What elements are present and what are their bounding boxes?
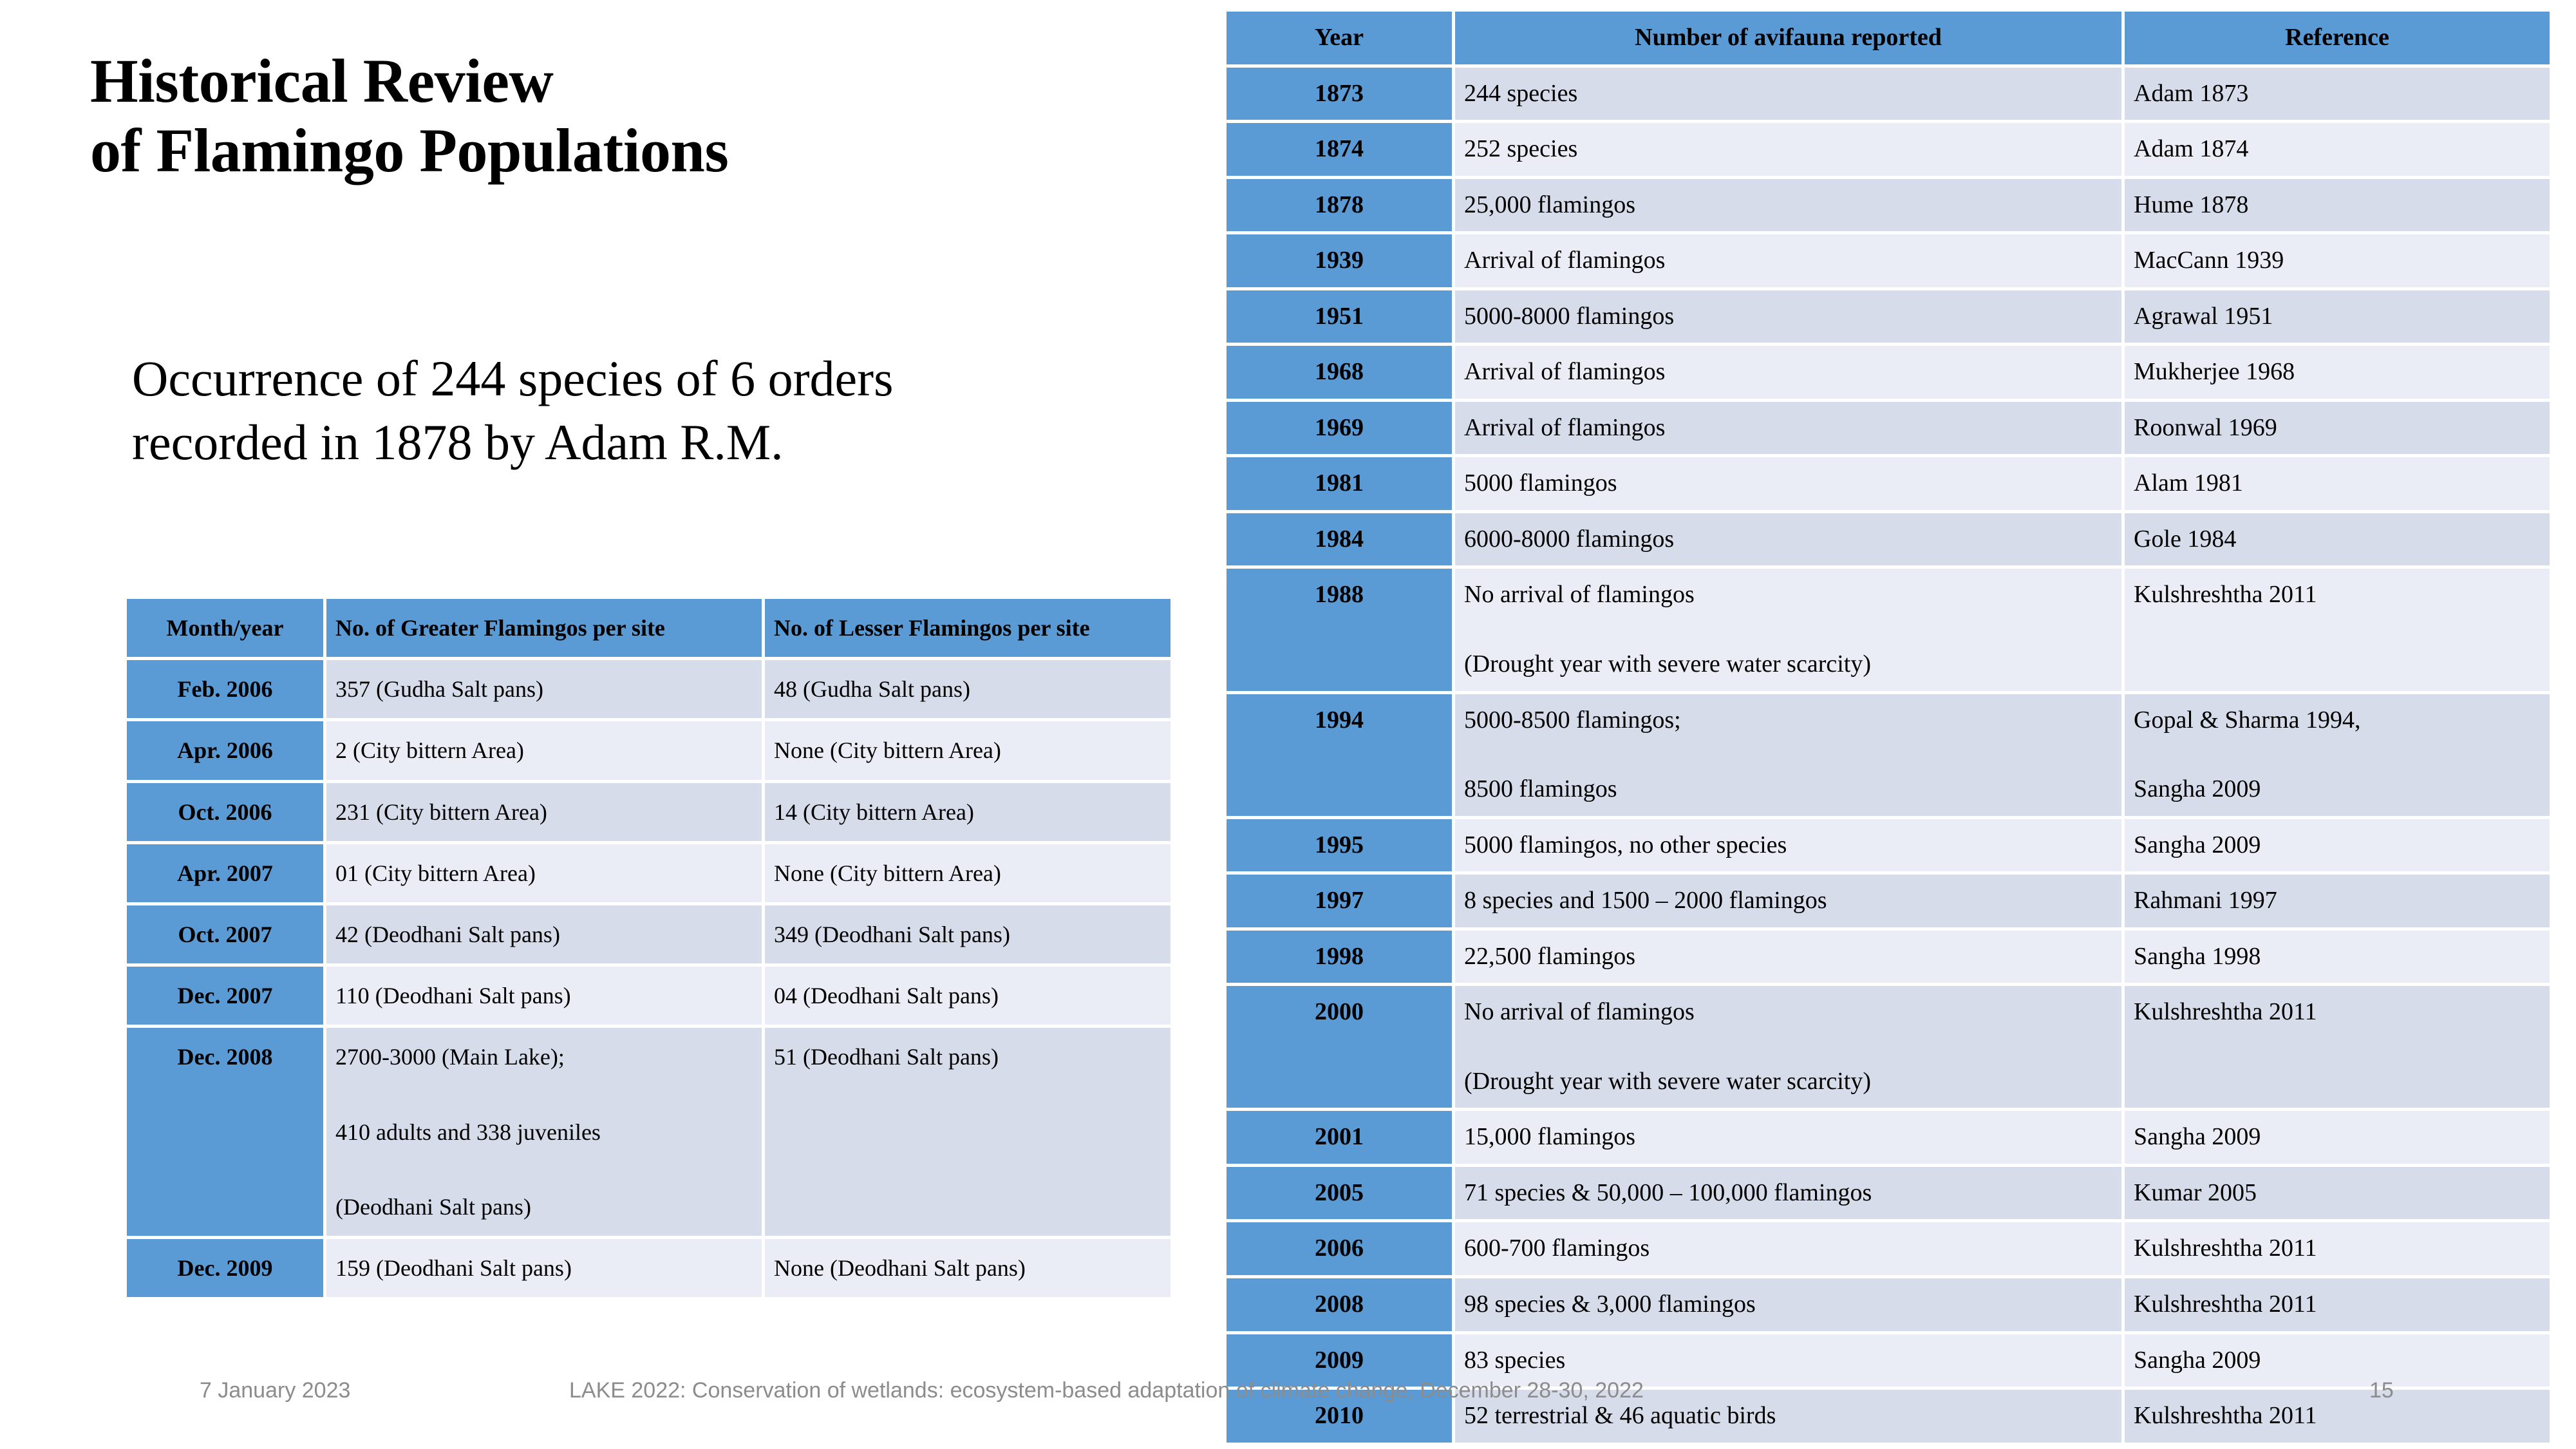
cell-avifauna-reported: Arrival of flamingos (1455, 234, 2121, 287)
cell-avifauna-reported-content: 98 species & 3,000 flamingos (1455, 1278, 2121, 1331)
cell-month-year-label: Dec. 2008 (127, 1028, 323, 1086)
cell-year: 2006 (1227, 1222, 1452, 1275)
cell-avifauna-reported: 5000 flamingos, no other species (1455, 819, 2121, 872)
cell-avifauna-reported: 244 species (1455, 68, 2121, 120)
cell-year-label: 1878 (1227, 179, 1452, 232)
cell-year-label: 2000 (1227, 986, 1452, 1039)
subtitle-line-1: Occurrence of 244 species of 6 orders (132, 346, 1227, 410)
cell-avifauna-reported: 25,000 flamingos (1455, 179, 2121, 232)
cell-reference: Kulshreshtha 2011 (2125, 986, 2550, 1108)
cell-avifauna-reported: 15,000 flamingos (1455, 1111, 2121, 1164)
cell-reference-content: Kulshreshtha 2011 (2125, 986, 2550, 1039)
cell-avifauna-reported-line: 5000-8000 flamingos (1464, 297, 2112, 337)
cell-reference-content: Rahmani 1997 (2125, 875, 2550, 927)
cell-avifauna-reported-line: Arrival of flamingos (1464, 408, 2112, 448)
cell-greater-flamingos: 231 (City bittern Area) (326, 783, 762, 841)
table-row: Apr. 200701 (City bittern Area)None (Cit… (127, 844, 1170, 902)
cell-reference: Rahmani 1997 (2125, 875, 2550, 927)
cell-year-label: 2005 (1227, 1167, 1452, 1220)
cell-avifauna-reported-content: 25,000 flamingos (1455, 179, 2121, 232)
cell-avifauna-reported-line: 6000-8000 flamingos (1464, 520, 2112, 560)
cell-lesser-flamingos-line: 51 (Deodhani Salt pans) (774, 1034, 1161, 1079)
cell-lesser-flamingos-line: 48 (Gudha Salt pans) (774, 667, 1161, 712)
cell-greater-flamingos-content: 357 (Gudha Salt pans) (326, 660, 762, 718)
cell-lesser-flamingos-line: None (City bittern Area) (774, 728, 1161, 773)
cell-avifauna-reported-line: 22,500 flamingos (1464, 937, 2112, 977)
table-row: Apr. 20062 (City bittern Area)None (City… (127, 721, 1170, 779)
table-row: 19945000-8500 flamingos;8500 flamingosGo… (1227, 694, 2550, 816)
cell-year-label: 1968 (1227, 346, 1452, 399)
cell-month-year-label: Apr. 2007 (127, 844, 323, 902)
cell-avifauna-reported-content: 6000-8000 flamingos (1455, 513, 2121, 566)
cell-reference: Adam 1874 (2125, 123, 2550, 176)
column-header-avifauna-reported: Number of avifauna reported (1455, 12, 2121, 64)
column-header-month-year-label: Month/year (127, 599, 323, 657)
cell-month-year: Feb. 2006 (127, 660, 323, 718)
cell-greater-flamingos: 159 (Deodhani Salt pans) (326, 1239, 762, 1297)
cell-avifauna-reported-content: 8 species and 1500 – 2000 flamingos (1455, 875, 2121, 927)
cell-reference-line: Kulshreshtha 2011 (2134, 1285, 2541, 1325)
cell-avifauna-reported-content: 22,500 flamingos (1455, 931, 2121, 983)
table-row: Oct. 200742 (Deodhani Salt pans)349 (Deo… (127, 905, 1170, 963)
cell-reference-content: Alam 1981 (2125, 457, 2550, 510)
cell-reference-content: Mukherjee 1968 (2125, 346, 2550, 399)
cell-avifauna-reported: No arrival of flamingos(Drought year wit… (1455, 569, 2121, 690)
cell-month-year: Dec. 2008 (127, 1028, 323, 1236)
table-row: 1969Arrival of flamingosRoonwal 1969 (1227, 402, 2550, 455)
cell-greater-flamingos: 2 (City bittern Area) (326, 721, 762, 779)
cell-reference-line: Kulshreshtha 2011 (2134, 575, 2541, 615)
cell-avifauna-reported-line: No arrival of flamingos (1464, 992, 2112, 1032)
cell-month-year-label: Feb. 2006 (127, 660, 323, 718)
table-row: 1968Arrival of flamingosMukherjee 1968 (1227, 346, 2550, 399)
cell-reference-content: Kulshreshtha 2011 (2125, 1278, 2550, 1331)
cell-greater-flamingos-line: 231 (City bittern Area) (335, 790, 753, 835)
table-row: Oct. 2006231 (City bittern Area)14 (City… (127, 783, 1170, 841)
cell-lesser-flamingos-content: None (City bittern Area) (765, 721, 1170, 779)
table-row: 200115,000 flamingosSangha 2009 (1227, 1111, 2550, 1164)
cell-lesser-flamingos: 14 (City bittern Area) (765, 783, 1170, 841)
cell-reference-content: MacCann 1939 (2125, 234, 2550, 287)
cell-year: 1984 (1227, 513, 1452, 566)
cell-greater-flamingos: 357 (Gudha Salt pans) (326, 660, 762, 718)
cell-reference-line: Sangha 2009 (2134, 1341, 2541, 1381)
cell-lesser-flamingos-content: 51 (Deodhani Salt pans) (765, 1028, 1170, 1086)
cell-year: 1988 (1227, 569, 1452, 690)
cell-month-year: Apr. 2007 (127, 844, 323, 902)
cell-lesser-flamingos-line: 349 (Deodhani Salt pans) (774, 912, 1161, 957)
cell-year: 1995 (1227, 819, 1452, 872)
flamingo-counts-by-month-table: Month/year No. of Greater Flamingos per … (124, 596, 1174, 1300)
cell-reference-line: Kumar 2005 (2134, 1173, 2541, 1213)
table-row: 1988No arrival of flamingos(Drought year… (1227, 569, 2550, 690)
cell-avifauna-reported-line: 25,000 flamingos (1464, 185, 2112, 225)
cell-year: 1873 (1227, 68, 1452, 120)
cell-avifauna-reported: 8 species and 1500 – 2000 flamingos (1455, 875, 2121, 927)
cell-greater-flamingos-line: 2700-3000 (Main Lake); (335, 1034, 753, 1079)
cell-avifauna-reported-content: 5000 flamingos (1455, 457, 2121, 510)
cell-greater-flamingos-content: 2700-3000 (Main Lake);410 adults and 338… (326, 1028, 762, 1236)
cell-avifauna-reported-line: No arrival of flamingos (1464, 575, 2112, 615)
cell-reference: Gole 1984 (2125, 513, 2550, 566)
cell-greater-flamingos-content: 42 (Deodhani Salt pans) (326, 905, 762, 963)
cell-reference-content: Adam 1873 (2125, 68, 2550, 120)
column-header-greater-flamingos-label: No. of Greater Flamingos per site (326, 599, 762, 657)
cell-reference-content: Hume 1878 (2125, 179, 2550, 232)
table-row: 200898 species & 3,000 flamingosKulshres… (1227, 1278, 2550, 1331)
cell-month-year: Oct. 2006 (127, 783, 323, 841)
cell-lesser-flamingos-line: 04 (Deodhani Salt pans) (774, 973, 1161, 1018)
cell-month-year-label: Oct. 2007 (127, 905, 323, 963)
cell-reference-content: Agrawal 1951 (2125, 290, 2550, 343)
cell-reference-content: Kulshreshtha 2011 (2125, 1222, 2550, 1275)
table-row: Dec. 20082700-3000 (Main Lake);410 adult… (127, 1028, 1170, 1236)
cell-reference: Adam 1873 (2125, 68, 2550, 120)
column-header-month-year: Month/year (127, 599, 323, 657)
cell-reference-line: Alam 1981 (2134, 464, 2541, 504)
cell-reference-line: Adam 1874 (2134, 129, 2541, 169)
cell-reference-content: Adam 1874 (2125, 123, 2550, 176)
cell-year-label: 1969 (1227, 402, 1452, 455)
cell-year-label: 1874 (1227, 123, 1452, 176)
cell-year-label: 1988 (1227, 569, 1452, 621)
cell-lesser-flamingos: 04 (Deodhani Salt pans) (765, 967, 1170, 1025)
cell-avifauna-reported-line: (Drought year with severe water scarcity… (1464, 645, 2112, 685)
cell-lesser-flamingos: 51 (Deodhani Salt pans) (765, 1028, 1170, 1236)
cell-avifauna-reported-line: 98 species & 3,000 flamingos (1464, 1285, 2112, 1325)
footer-date: 7 January 2023 (200, 1378, 350, 1403)
cell-month-year: Dec. 2009 (127, 1239, 323, 1297)
cell-avifauna-reported: Arrival of flamingos (1455, 402, 2121, 455)
cell-avifauna-reported: 5000-8000 flamingos (1455, 290, 2121, 343)
cell-reference: Sangha 2009 (2125, 819, 2550, 872)
subtitle-line-2: recorded in 1878 by Adam R.M. (132, 410, 1227, 474)
cell-lesser-flamingos: None (City bittern Area) (765, 721, 1170, 779)
cell-avifauna-reported-line: (Drought year with severe water scarcity… (1464, 1062, 2112, 1102)
cell-avifauna-reported: 5000 flamingos (1455, 457, 2121, 510)
cell-avifauna-reported: 98 species & 3,000 flamingos (1455, 1278, 2121, 1331)
cell-year: 1998 (1227, 931, 1452, 983)
cell-lesser-flamingos-content: 48 (Gudha Salt pans) (765, 660, 1170, 718)
cell-lesser-flamingos-content: 349 (Deodhani Salt pans) (765, 905, 1170, 963)
cell-year: 2000 (1227, 986, 1452, 1108)
cell-avifauna-reported-content: 5000 flamingos, no other species (1455, 819, 2121, 872)
table-header-row: Year Number of avifauna reported Referen… (1227, 12, 2550, 64)
cell-avifauna-reported-content: No arrival of flamingos(Drought year wit… (1455, 569, 2121, 690)
table-row: Dec. 2007110 (Deodhani Salt pans)04 (Deo… (127, 967, 1170, 1025)
cell-lesser-flamingos-content: 04 (Deodhani Salt pans) (765, 967, 1170, 1025)
cell-reference-content: Sangha 2009 (2125, 1111, 2550, 1164)
cell-month-year: Apr. 2006 (127, 721, 323, 779)
column-header-avifauna-reported-label: Number of avifauna reported (1455, 12, 2121, 64)
cell-avifauna-reported: 22,500 flamingos (1455, 931, 2121, 983)
cell-greater-flamingos-content: 159 (Deodhani Salt pans) (326, 1239, 762, 1297)
cell-greater-flamingos-line: 410 adults and 338 juveniles (335, 1110, 753, 1155)
cell-reference-line: Sangha 1998 (2134, 937, 2541, 977)
cell-reference-line: Sangha 2009 (2134, 1117, 2541, 1157)
table-row: 19955000 flamingos, no other speciesSang… (1227, 819, 2550, 872)
cell-reference: Gopal & Sharma 1994,Sangha 2009 (2125, 694, 2550, 816)
cell-year-label: 1873 (1227, 68, 1452, 120)
cell-reference-content: Kumar 2005 (2125, 1167, 2550, 1220)
cell-reference: Alam 1981 (2125, 457, 2550, 510)
cell-reference-line: Sangha 2009 (2134, 770, 2541, 810)
cell-lesser-flamingos-content: None (Deodhani Salt pans) (765, 1239, 1170, 1297)
cell-reference-line: Rahmani 1997 (2134, 881, 2541, 921)
cell-avifauna-reported: Arrival of flamingos (1455, 346, 2121, 399)
cell-avifauna-reported-content: Arrival of flamingos (1455, 346, 2121, 399)
cell-greater-flamingos: 110 (Deodhani Salt pans) (326, 967, 762, 1025)
page-title-line-1: Historical Review (90, 46, 1120, 116)
cell-month-year-label: Apr. 2006 (127, 721, 323, 779)
cell-year-label: 1951 (1227, 290, 1452, 343)
cell-reference-line: Sangha 2009 (2134, 826, 2541, 866)
cell-lesser-flamingos-line: None (City bittern Area) (774, 851, 1161, 896)
cell-avifauna-reported: 6000-8000 flamingos (1455, 513, 2121, 566)
cell-avifauna-reported-line: 15,000 flamingos (1464, 1117, 2112, 1157)
cell-greater-flamingos: 01 (City bittern Area) (326, 844, 762, 902)
cell-avifauna-reported-content: 71 species & 50,000 – 100,000 flamingos (1455, 1167, 2121, 1220)
cell-greater-flamingos-content: 231 (City bittern Area) (326, 783, 762, 841)
cell-month-year-label: Dec. 2007 (127, 967, 323, 1025)
cell-avifauna-reported-content: Arrival of flamingos (1455, 234, 2121, 287)
cell-greater-flamingos: 42 (Deodhani Salt pans) (326, 905, 762, 963)
cell-avifauna-reported: 252 species (1455, 123, 2121, 176)
table-row: Dec. 2009159 (Deodhani Salt pans)None (D… (127, 1239, 1170, 1297)
cell-greater-flamingos-line: (Deodhani Salt pans) (335, 1184, 753, 1229)
cell-year: 1969 (1227, 402, 1452, 455)
cell-avifauna-reported-content: 5000-8500 flamingos;8500 flamingos (1455, 694, 2121, 816)
column-header-lesser-flamingos-label: No. of Lesser Flamingos per site (765, 599, 1170, 657)
cell-avifauna-reported-line: 244 species (1464, 74, 2112, 114)
cell-reference-line: Mukherjee 1968 (2134, 352, 2541, 392)
cell-year: 2001 (1227, 1111, 1452, 1164)
cell-year: 1968 (1227, 346, 1452, 399)
cell-avifauna-reported-content: No arrival of flamingos(Drought year wit… (1455, 986, 2121, 1108)
cell-reference-line: Adam 1873 (2134, 74, 2541, 114)
cell-reference: Mukherjee 1968 (2125, 346, 2550, 399)
cell-reference: Kulshreshtha 2011 (2125, 569, 2550, 690)
column-header-greater-flamingos: No. of Greater Flamingos per site (326, 599, 762, 657)
cell-reference-content: Roonwal 1969 (2125, 402, 2550, 455)
table-row: 19515000-8000 flamingosAgrawal 1951 (1227, 290, 2550, 343)
cell-avifauna-reported-line: 8500 flamingos (1464, 770, 2112, 810)
cell-reference: Kulshreshtha 2011 (2125, 1278, 2550, 1331)
cell-reference-line: Kulshreshtha 2011 (2134, 1229, 2541, 1269)
cell-greater-flamingos-line: 159 (Deodhani Salt pans) (335, 1245, 753, 1291)
column-header-year-label: Year (1227, 12, 1452, 64)
cell-avifauna-reported-content: 5000-8000 flamingos (1455, 290, 2121, 343)
cell-greater-flamingos-line: 2 (City bittern Area) (335, 728, 753, 773)
cell-reference-line: Roonwal 1969 (2134, 408, 2541, 448)
cell-greater-flamingos-line: 01 (City bittern Area) (335, 851, 753, 896)
cell-avifauna-reported-content: Arrival of flamingos (1455, 402, 2121, 455)
cell-reference: Agrawal 1951 (2125, 290, 2550, 343)
cell-month-year-label: Oct. 2006 (127, 783, 323, 841)
cell-lesser-flamingos: 349 (Deodhani Salt pans) (765, 905, 1170, 963)
table-row: 199822,500 flamingosSangha 1998 (1227, 931, 2550, 983)
footer-event-title: LAKE 2022: Conservation of wetlands: eco… (569, 1378, 1644, 1403)
table-row: 2006600-700 flamingosKulshreshtha 2011 (1227, 1222, 2550, 1275)
cell-year-label: 2001 (1227, 1111, 1452, 1164)
cell-reference-content: Sangha 1998 (2125, 931, 2550, 983)
cell-reference-line: Kulshreshtha 2011 (2134, 992, 2541, 1032)
table-row: 2000No arrival of flamingos(Drought year… (1227, 986, 2550, 1108)
cell-year-label: 1981 (1227, 457, 1452, 510)
table-row: 1939Arrival of flamingosMacCann 1939 (1227, 234, 2550, 287)
cell-avifauna-reported-line: 252 species (1464, 129, 2112, 169)
subtitle: Occurrence of 244 species of 6 orders re… (132, 346, 1227, 474)
table-row: 19815000 flamingosAlam 1981 (1227, 457, 2550, 510)
cell-month-year-label: Dec. 2009 (127, 1239, 323, 1297)
cell-avifauna-reported-line: 71 species & 50,000 – 100,000 flamingos (1464, 1173, 2112, 1213)
table-row: 200571 species & 50,000 – 100,000 flamin… (1227, 1167, 2550, 1220)
cell-month-year: Oct. 2007 (127, 905, 323, 963)
table-row: Feb. 2006357 (Gudha Salt pans)48 (Gudha … (127, 660, 1170, 718)
cell-reference-line: Gopal & Sharma 1994, (2134, 701, 2541, 741)
cell-year: 1951 (1227, 290, 1452, 343)
cell-year-label: 1939 (1227, 234, 1452, 287)
cell-year-label: 2008 (1227, 1278, 1452, 1331)
cell-reference-content: Gole 1984 (2125, 513, 2550, 566)
page-title: Historical Review of Flamingo Population… (90, 46, 1120, 186)
cell-avifauna-reported-line: 5000 flamingos (1464, 464, 2112, 504)
cell-avifauna-reported-line: 83 species (1464, 1341, 2112, 1381)
table-header-row: Month/year No. of Greater Flamingos per … (127, 599, 1170, 657)
column-header-reference-label: Reference (2125, 12, 2550, 64)
cell-reference-line: MacCann 1939 (2134, 241, 2541, 281)
cell-reference: Sangha 1998 (2125, 931, 2550, 983)
slide-footer: 7 January 2023 LAKE 2022: Conservation o… (0, 1378, 2576, 1417)
cell-reference: Hume 1878 (2125, 179, 2550, 232)
cell-avifauna-reported-content: 600-700 flamingos (1455, 1222, 2121, 1275)
cell-reference-line: Hume 1878 (2134, 185, 2541, 225)
table-row: 19978 species and 1500 – 2000 flamingosR… (1227, 875, 2550, 927)
cell-year-label: 1984 (1227, 513, 1452, 566)
cell-greater-flamingos-content: 2 (City bittern Area) (326, 721, 762, 779)
cell-reference-content: Sangha 2009 (2125, 819, 2550, 872)
cell-avifauna-reported-line: Arrival of flamingos (1464, 352, 2112, 392)
cell-greater-flamingos-line: 42 (Deodhani Salt pans) (335, 912, 753, 957)
table-row: 1873244 speciesAdam 1873 (1227, 68, 2550, 120)
cell-avifauna-reported-line: 8 species and 1500 – 2000 flamingos (1464, 881, 2112, 921)
cell-year-label: 1998 (1227, 931, 1452, 983)
cell-avifauna-reported-line: Arrival of flamingos (1464, 241, 2112, 281)
cell-year: 1994 (1227, 694, 1452, 816)
cell-lesser-flamingos-line: None (Deodhani Salt pans) (774, 1245, 1161, 1291)
table-row: 1874252 speciesAdam 1874 (1227, 123, 2550, 176)
cell-avifauna-reported: 71 species & 50,000 – 100,000 flamingos (1455, 1167, 2121, 1220)
cell-month-year: Dec. 2007 (127, 967, 323, 1025)
avifauna-historical-records-table: Year Number of avifauna reported Referen… (1223, 8, 2553, 1446)
cell-reference-content: Kulshreshtha 2011 (2125, 569, 2550, 621)
cell-greater-flamingos-content: 01 (City bittern Area) (326, 844, 762, 902)
cell-reference: Kumar 2005 (2125, 1167, 2550, 1220)
cell-lesser-flamingos-content: 14 (City bittern Area) (765, 783, 1170, 841)
cell-reference: MacCann 1939 (2125, 234, 2550, 287)
cell-avifauna-reported-line: 600-700 flamingos (1464, 1229, 2112, 1269)
cell-year: 1874 (1227, 123, 1452, 176)
cell-reference-content: Gopal & Sharma 1994,Sangha 2009 (2125, 694, 2550, 816)
cell-year: 1878 (1227, 179, 1452, 232)
cell-reference: Kulshreshtha 2011 (2125, 1222, 2550, 1275)
cell-year-label: 1994 (1227, 694, 1452, 747)
column-header-year: Year (1227, 12, 1452, 64)
cell-lesser-flamingos-line: 14 (City bittern Area) (774, 790, 1161, 835)
cell-lesser-flamingos-content: None (City bittern Area) (765, 844, 1170, 902)
cell-year: 1939 (1227, 234, 1452, 287)
cell-reference-line: Agrawal 1951 (2134, 297, 2541, 337)
cell-avifauna-reported-content: 15,000 flamingos (1455, 1111, 2121, 1164)
cell-year: 1981 (1227, 457, 1452, 510)
cell-greater-flamingos-line: 110 (Deodhani Salt pans) (335, 973, 753, 1018)
cell-year: 1997 (1227, 875, 1452, 927)
cell-greater-flamingos: 2700-3000 (Main Lake);410 adults and 338… (326, 1028, 762, 1236)
cell-lesser-flamingos: None (Deodhani Salt pans) (765, 1239, 1170, 1297)
cell-year: 2005 (1227, 1167, 1452, 1220)
cell-lesser-flamingos: 48 (Gudha Salt pans) (765, 660, 1170, 718)
column-header-lesser-flamingos: No. of Lesser Flamingos per site (765, 599, 1170, 657)
cell-avifauna-reported: No arrival of flamingos(Drought year wit… (1455, 986, 2121, 1108)
cell-greater-flamingos-content: 110 (Deodhani Salt pans) (326, 967, 762, 1025)
table-row: 187825,000 flamingosHume 1878 (1227, 179, 2550, 232)
cell-year-label: 2006 (1227, 1222, 1452, 1275)
footer-page-number: 15 (2369, 1378, 2394, 1403)
cell-avifauna-reported: 600-700 flamingos (1455, 1222, 2121, 1275)
cell-reference-line: Gole 1984 (2134, 520, 2541, 560)
cell-reference: Roonwal 1969 (2125, 402, 2550, 455)
cell-avifauna-reported-line: 5000 flamingos, no other species (1464, 826, 2112, 866)
page-title-line-2: of Flamingo Populations (90, 116, 1120, 185)
table-row: 19846000-8000 flamingosGole 1984 (1227, 513, 2550, 566)
cell-avifauna-reported: 5000-8500 flamingos;8500 flamingos (1455, 694, 2121, 816)
cell-avifauna-reported-content: 252 species (1455, 123, 2121, 176)
cell-year: 2008 (1227, 1278, 1452, 1331)
cell-year-label: 1995 (1227, 819, 1452, 872)
column-header-reference: Reference (2125, 12, 2550, 64)
cell-greater-flamingos-line: 357 (Gudha Salt pans) (335, 667, 753, 712)
cell-lesser-flamingos: None (City bittern Area) (765, 844, 1170, 902)
cell-avifauna-reported-content: 244 species (1455, 68, 2121, 120)
cell-reference: Sangha 2009 (2125, 1111, 2550, 1164)
cell-year-label: 1997 (1227, 875, 1452, 927)
cell-avifauna-reported-line: 5000-8500 flamingos; (1464, 701, 2112, 741)
